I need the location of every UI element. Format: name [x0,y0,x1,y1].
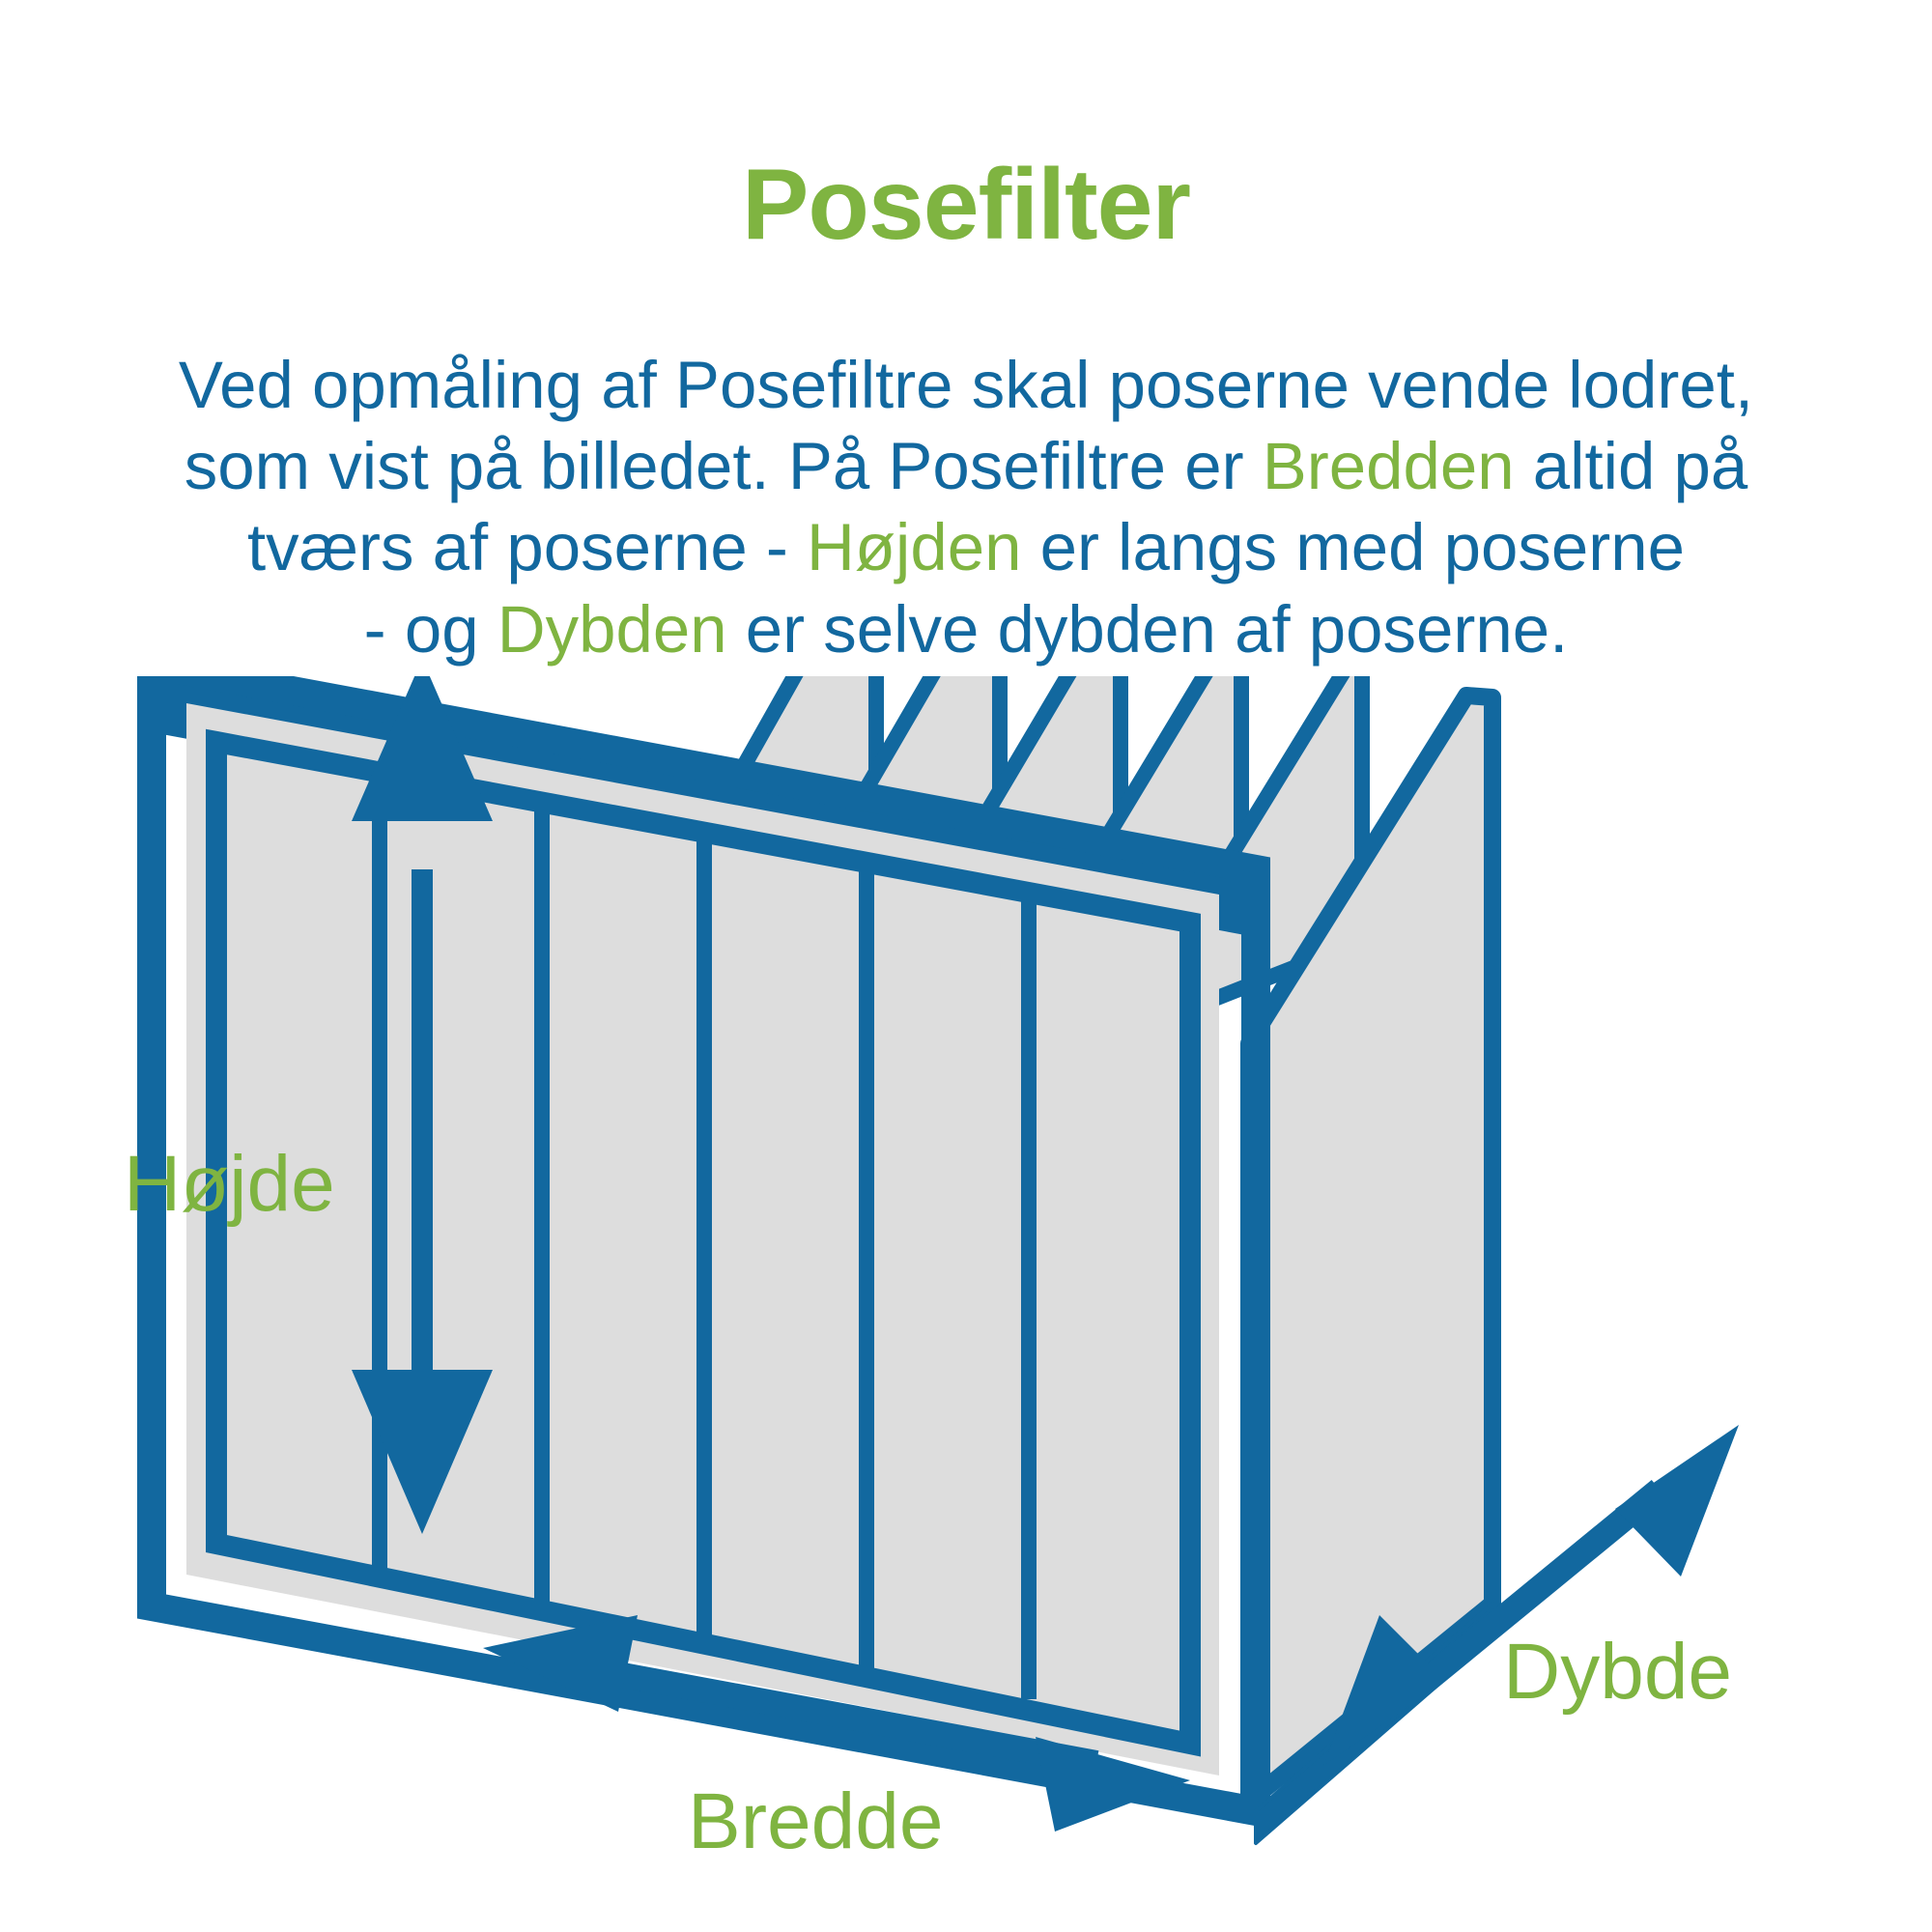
dimension-label-width: Bredde [688,1782,943,1861]
poster-page: Posefilter Ved opmåling af Posefiltre sk… [0,0,1932,1932]
intro-line-4-part-1: - og [364,592,497,667]
intro-paragraph: Ved opmåling af Posefiltre skal poserne … [68,345,1864,670]
page-title: Posefilter [0,153,1932,258]
intro-line-2-part-1: som vist på billedet. På Posefiltre er [185,429,1263,503]
intro-line-2-part-2: altid på [1515,429,1748,503]
bag-filter-diagram [0,676,1932,1932]
highlight-bredden: Bredden [1263,429,1515,503]
highlight-hojden: Højden [807,510,1021,584]
highlight-dybden: Dybden [497,592,727,667]
bag-filter-svg [0,676,1932,1932]
intro-line-3-part-2: er langs med poserne [1021,510,1685,584]
intro-line-3-part-1: tværs af poserne - [247,510,807,584]
dimension-label-depth: Dybde [1503,1633,1732,1712]
dimension-label-height: Højde [124,1145,335,1224]
intro-line-4-part-2: er selve dybden af poserne. [727,592,1569,667]
intro-line-1: Ved opmåling af Posefiltre skal poserne … [179,348,1753,422]
